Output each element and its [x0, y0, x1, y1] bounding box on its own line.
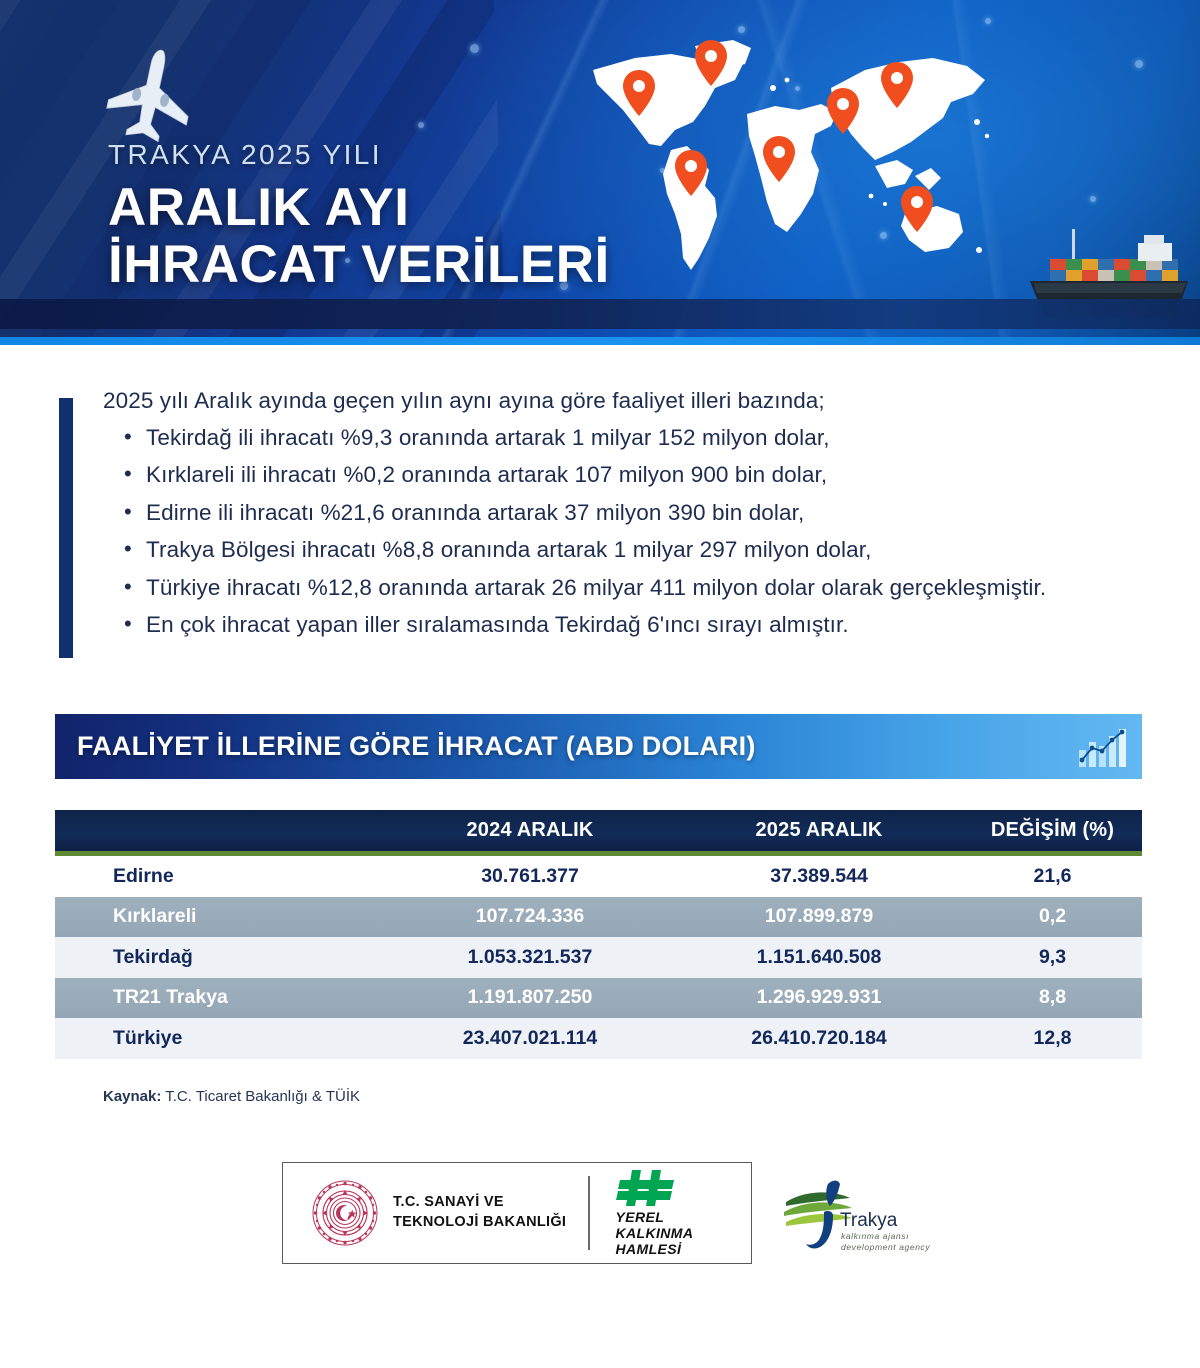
row-value-2025: 26.410.720.184	[675, 1027, 963, 1050]
ministry-logo: T.C. SANAYİ VE TEKNOLOJİ BAKANLIĞI	[283, 1179, 588, 1247]
list-item: Trakya Bölgesi ihracatı %8,8 oranında ar…	[122, 536, 1072, 564]
list-item: En çok ihracat yapan iller sıralamasında…	[122, 611, 1072, 639]
row-value-change: 12,8	[963, 1027, 1142, 1050]
row-label: Kırklareli	[55, 905, 385, 928]
hamle-line1: YEREL	[616, 1210, 694, 1226]
row-label: Edirne	[55, 865, 385, 888]
row-value-change: 0,2	[963, 905, 1142, 928]
row-value-2024: 1.053.321.537	[385, 946, 675, 969]
header-banner: TRAKYA 2025 YILI ARALIK AYI İHRACAT VERİ…	[0, 0, 1200, 337]
footer-logos: T.C. SANAYİ VE TEKNOLOJİ BAKANLIĞI YEREL…	[0, 1160, 1200, 1275]
hamle-wordmark: YEREL KALKINMA HAMLESİ	[616, 1210, 694, 1257]
trakya-name: Trakya	[840, 1210, 898, 1231]
row-value-change: 9,3	[963, 946, 1142, 969]
hamle-line3: HAMLESİ	[616, 1242, 694, 1258]
row-label: TR21 Trakya	[55, 986, 385, 1009]
row-value-2025: 37.389.544	[675, 865, 963, 888]
list-item: Tekirdağ ili ihracatı %9,3 oranında arta…	[122, 424, 1072, 452]
table-row: Tekirdağ 1.053.321.537 1.151.640.508 9,3	[55, 937, 1142, 978]
row-value-2024: 30.761.377	[385, 865, 675, 888]
source-label: Kaynak:	[103, 1088, 161, 1105]
trakya-agency-logo: Trakya kalkınma ajansı development agenc…	[780, 1168, 980, 1260]
table-header-cell-2024: 2024 ARALIK	[385, 819, 675, 842]
ministry-logo-box: T.C. SANAYİ VE TEKNOLOJİ BAKANLIĞI YEREL…	[282, 1162, 752, 1264]
hamle-line2: KALKINMA	[616, 1226, 694, 1242]
table-row: Türkiye 23.407.021.114 26.410.720.184 12…	[55, 1018, 1142, 1059]
export-data-table: 2024 ARALIK 2025 ARALIK DEĞİŞİM (%) Edir…	[55, 810, 1142, 1059]
row-value-2025: 1.296.929.931	[675, 986, 963, 1009]
header-bottom-shade	[0, 299, 1200, 329]
row-value-change: 8,8	[963, 986, 1142, 1009]
table-row: TR21 Trakya 1.191.807.250 1.296.929.931 …	[55, 978, 1142, 1019]
row-value-2025: 1.151.640.508	[675, 946, 963, 969]
table-header-cell-2025: 2025 ARALIK	[675, 819, 963, 842]
ministry-name: T.C. SANAYİ VE TEKNOLOJİ BAKANLIĞI	[393, 1193, 566, 1232]
row-label: Türkiye	[55, 1027, 385, 1050]
header-title-line2: İHRACAT VERİLERİ	[108, 236, 610, 293]
header-title-group: TRAKYA 2025 YILI ARALIK AYI İHRACAT VERİ…	[108, 140, 610, 293]
list-item: Edirne ili ihracatı %21,6 oranında artar…	[122, 499, 1072, 527]
table-row: Edirne 30.761.377 37.389.544 21,6	[55, 856, 1142, 897]
row-value-2024: 1.191.807.250	[385, 986, 675, 1009]
summary-accent-bar	[59, 398, 73, 658]
row-label: Tekirdağ	[55, 946, 385, 969]
table-section-banner: FAALİYET İLLERİNE GÖRE İHRACAT (ABD DOLA…	[55, 714, 1142, 779]
row-value-2024: 23.407.021.114	[385, 1027, 675, 1050]
source-value: T.C. Ticaret Bakanlığı & TÜİK	[161, 1088, 360, 1105]
trakya-sub1: kalkınma ajansı	[841, 1231, 909, 1241]
table-header-cell-change: DEĞİŞİM (%)	[963, 819, 1142, 842]
summary-lead-text: 2025 yılı Aralık ayında geçen yılın aynı…	[103, 390, 825, 413]
table-header-row: 2024 ARALIK 2025 ARALIK DEĞİŞİM (%)	[55, 810, 1142, 856]
summary-bullet-list: Tekirdağ ili ihracatı %9,3 oranında arta…	[122, 424, 1072, 648]
bar-chart-growth-icon	[1076, 724, 1128, 770]
list-item: Türkiye ihracatı %12,8 oranında artarak …	[122, 574, 1072, 602]
trakya-sub2: development agency	[841, 1242, 930, 1252]
list-item: Kırklareli ili ihracatı %0,2 oranında ar…	[122, 461, 1072, 489]
trakya-swoosh-logo: Trakya kalkınma ajansı development agenc…	[780, 1168, 980, 1260]
source-note: Kaynak: T.C. Ticaret Bakanlığı & TÜİK	[103, 1088, 360, 1105]
turkish-republic-emblem-icon	[311, 1179, 379, 1247]
header-accent-strip	[0, 337, 1200, 345]
hashtag-icon	[616, 1168, 682, 1208]
row-value-2025: 107.899.879	[675, 905, 963, 928]
summary-section: 2025 yılı Aralık ayında geçen yılın aynı…	[0, 390, 1200, 670]
ministry-name-line2: TEKNOLOJİ BAKANLIĞI	[393, 1213, 566, 1233]
ministry-name-line1: T.C. SANAYİ VE	[393, 1193, 566, 1213]
header-title-line1: ARALIK AYI	[108, 179, 610, 236]
table-section-title: FAALİYET İLLERİNE GÖRE İHRACAT (ABD DOLA…	[77, 731, 756, 762]
hamle-logo: YEREL KALKINMA HAMLESİ	[590, 1168, 694, 1257]
row-value-change: 21,6	[963, 865, 1142, 888]
table-row: Kırklareli 107.724.336 107.899.879 0,2	[55, 897, 1142, 938]
header-kicker: TRAKYA 2025 YILI	[108, 140, 610, 171]
row-value-2024: 107.724.336	[385, 905, 675, 928]
